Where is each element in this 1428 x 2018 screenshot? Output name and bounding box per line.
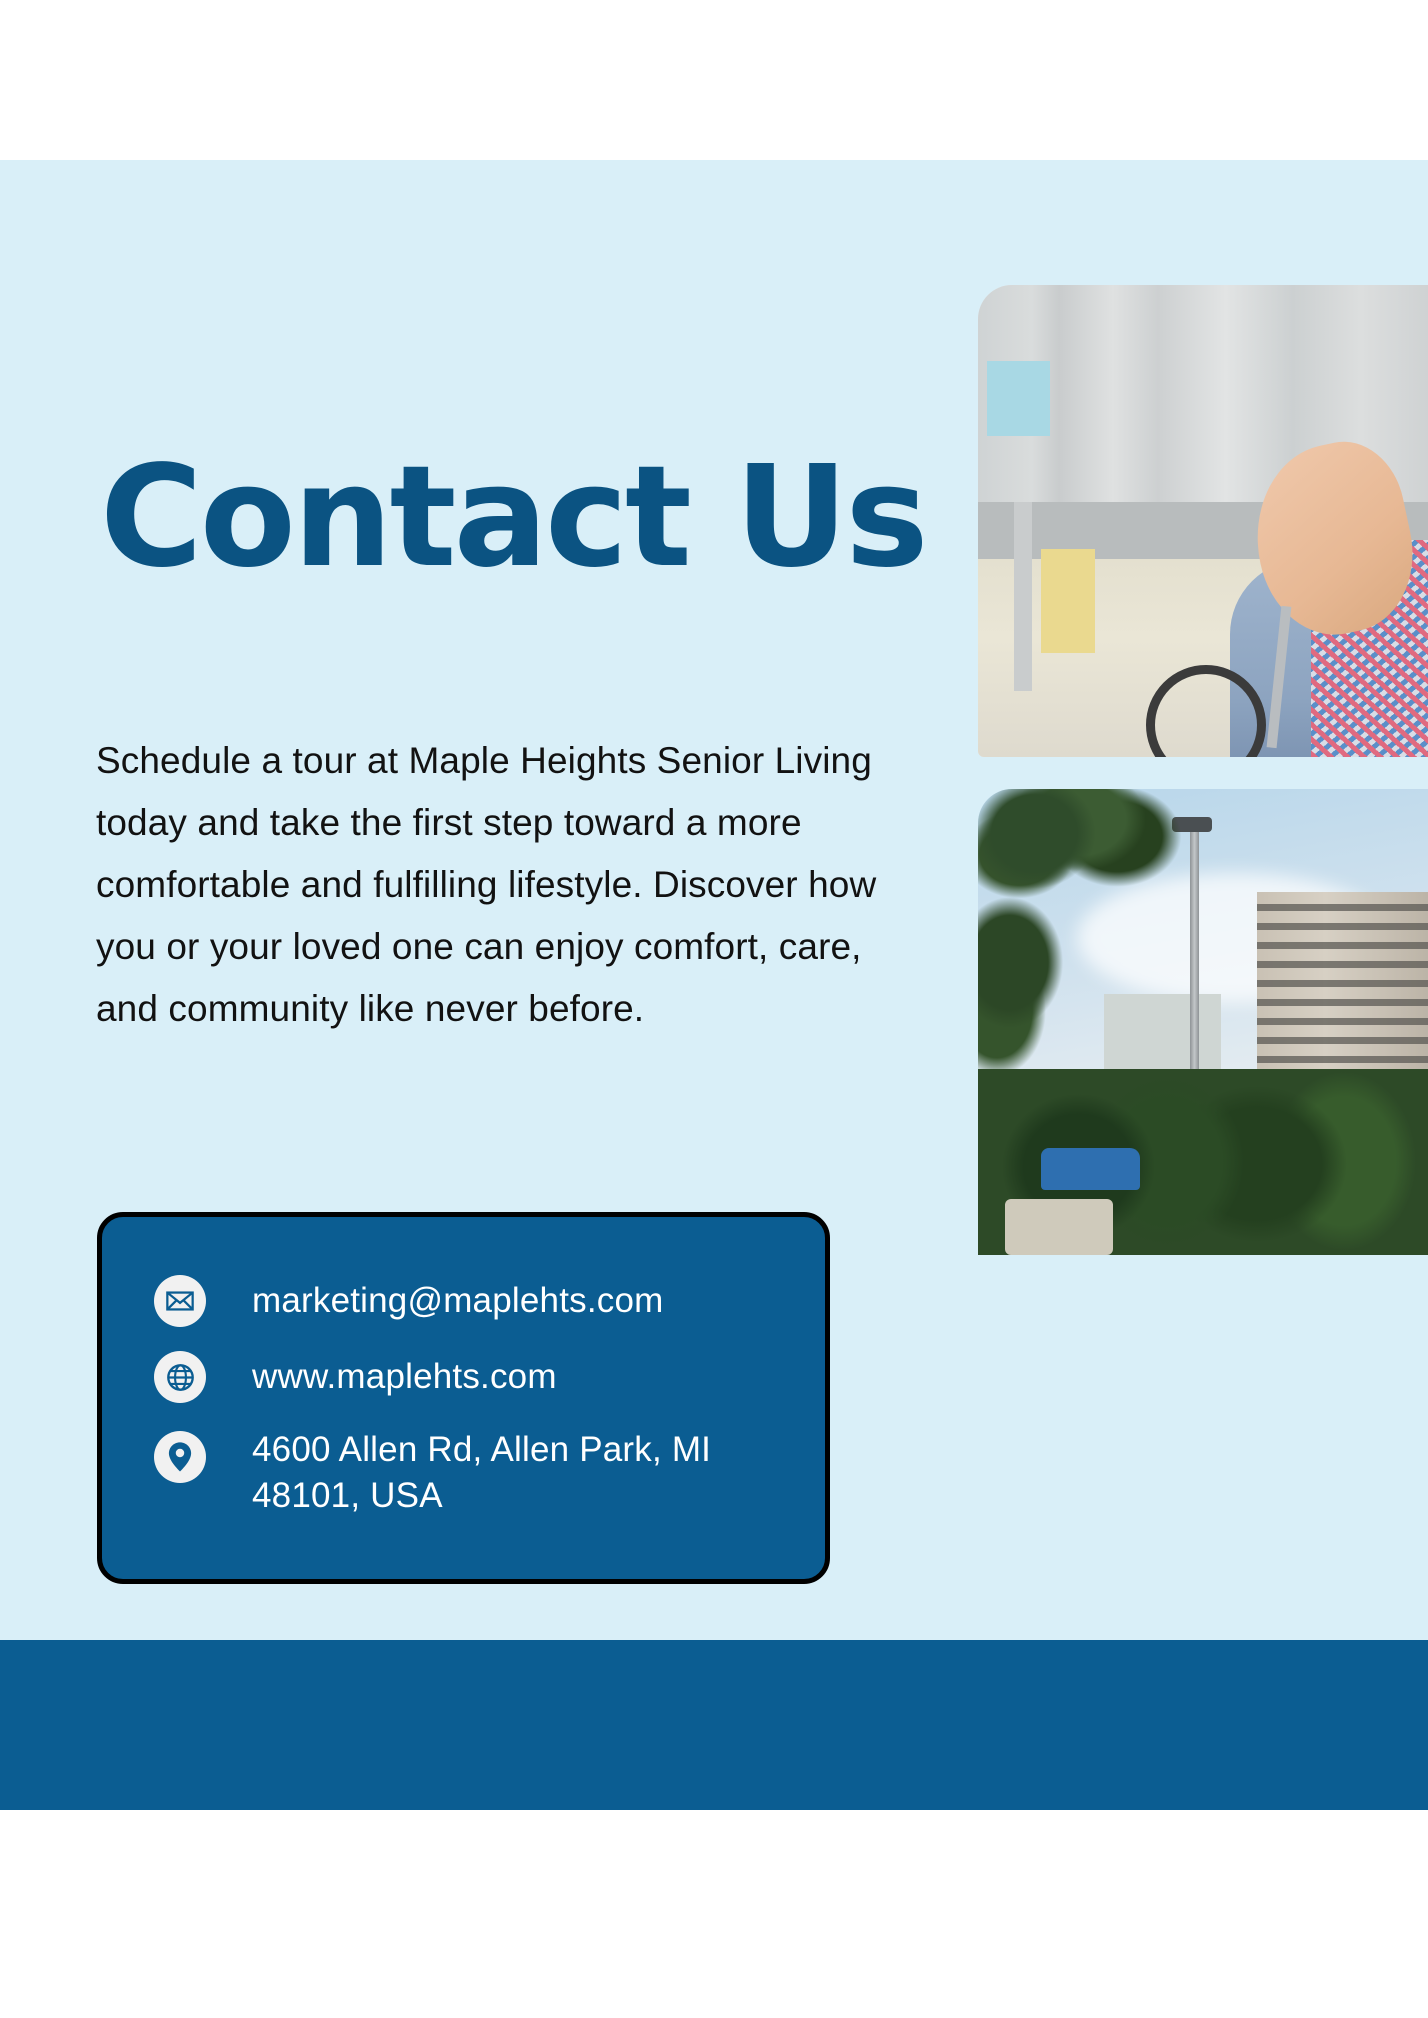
envelope-icon xyxy=(154,1275,206,1327)
email-address-text: marketing@maplehts.com xyxy=(252,1278,663,1324)
page-title: Contact Us xyxy=(100,443,960,593)
postal-address-text: 4600 Allen Rd, Allen Park, MI 48101, USA xyxy=(252,1427,711,1519)
footer-bar xyxy=(0,1640,1428,1810)
contact-rows: marketing@maplehts.com www.maplehts.com xyxy=(102,1247,825,1549)
intro-paragraph: Schedule a tour at Maple Heights Senior … xyxy=(96,730,926,1040)
contact-details-card: marketing@maplehts.com www.maplehts.com xyxy=(97,1212,830,1584)
contact-row-address[interactable]: 4600 Allen Rd, Allen Park, MI 48101, USA xyxy=(102,1427,825,1519)
contact-row-email[interactable]: marketing@maplehts.com xyxy=(102,1275,825,1327)
community-exterior-photo xyxy=(978,789,1428,1255)
location-pin-icon xyxy=(154,1431,206,1483)
senior-in-wheelchair-photo xyxy=(978,285,1428,757)
contact-row-website[interactable]: www.maplehts.com xyxy=(102,1351,825,1403)
website-url-text: www.maplehts.com xyxy=(252,1354,557,1400)
globe-icon xyxy=(154,1351,206,1403)
contact-us-page: Contact Us Schedule a tour at Maple Heig… xyxy=(0,0,1428,2018)
